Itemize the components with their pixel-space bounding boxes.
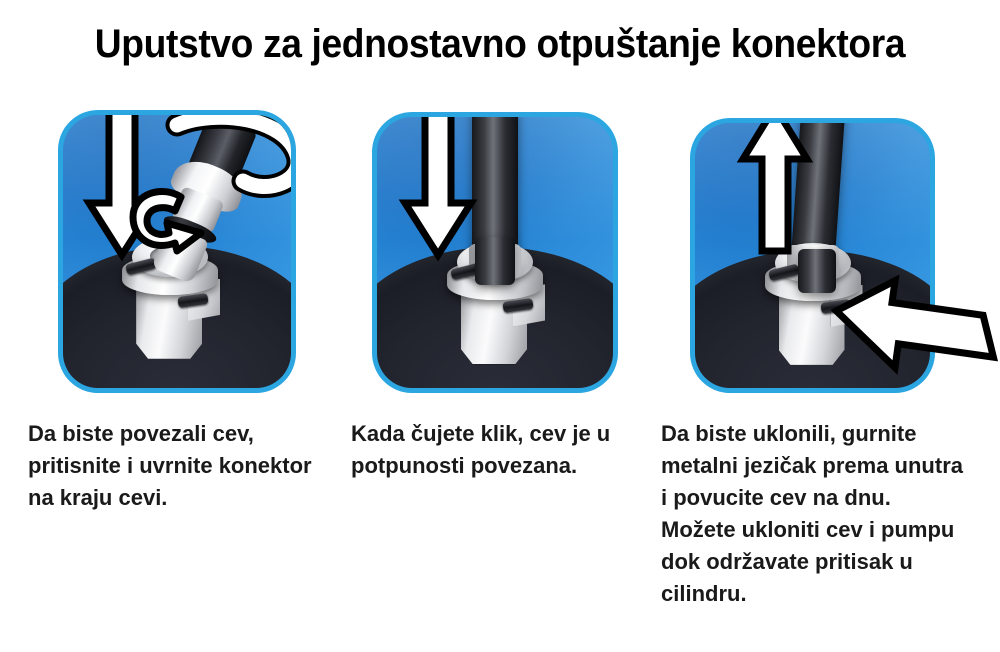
- up-arrow-icon: [737, 123, 813, 255]
- panel-1-caption: Da biste povezali cev, pritisnite i uvrn…: [28, 418, 328, 514]
- instruction-panel-2: [372, 112, 618, 393]
- instruction-panel-1: [58, 110, 296, 393]
- panel-2-image: [377, 117, 613, 388]
- rotate-arrow-icon: [123, 177, 227, 253]
- instruction-panels: [0, 0, 1000, 400]
- panel-1-border: [58, 110, 296, 393]
- panel-2-caption: Kada čujete klik, cev je u potpunosti po…: [351, 418, 651, 482]
- panel-3-caption: Da biste uklonili, gurnite metalni jezič…: [661, 418, 971, 610]
- panel-1-image: [63, 115, 291, 388]
- panel-2-border: [372, 112, 618, 393]
- diagonal-arrow-icon: [830, 278, 1000, 388]
- down-arrow-icon: [399, 117, 477, 263]
- instruction-panel-3: [690, 118, 935, 393]
- panel-2-tube-lower: [475, 237, 515, 285]
